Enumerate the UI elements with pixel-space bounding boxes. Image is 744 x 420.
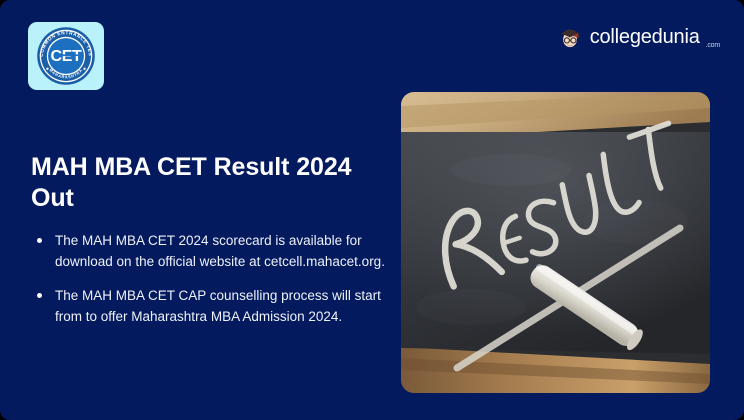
chalkboard-illustration [401, 92, 710, 393]
svg-text:CET: CET [50, 48, 82, 65]
list-item: The MAH MBA CET CAP counselling process … [31, 286, 386, 327]
content-block: MAH MBA CET Result 2024 Out The MAH MBA … [31, 152, 386, 327]
mascot-graduate-icon [557, 24, 583, 50]
collegedunia-brand[interactable]: collegedunia .com [557, 22, 720, 52]
cet-seal-icon: STATE COMMON ENTRANCE TEST CELL MAHARASH… [34, 24, 98, 88]
list-item-text: The MAH MBA CET 2024 scorecard is availa… [55, 233, 385, 269]
page-title: MAH MBA CET Result 2024 Out [31, 152, 386, 213]
brand-name-label: collegedunia [590, 27, 700, 47]
chalkboard-result-photo [401, 92, 710, 393]
bullet-dot-icon [37, 238, 42, 243]
bullet-dot-icon [37, 293, 42, 298]
highlights-list: The MAH MBA CET 2024 scorecard is availa… [31, 231, 386, 327]
brand-tld-label: .com [706, 42, 720, 49]
cet-logo: STATE COMMON ENTRANCE TEST CELL MAHARASH… [28, 22, 104, 90]
list-item-text: The MAH MBA CET CAP counselling process … [55, 288, 381, 324]
list-item: The MAH MBA CET 2024 scorecard is availa… [31, 231, 386, 272]
promo-card: STATE COMMON ENTRANCE TEST CELL MAHARASH… [0, 0, 744, 420]
